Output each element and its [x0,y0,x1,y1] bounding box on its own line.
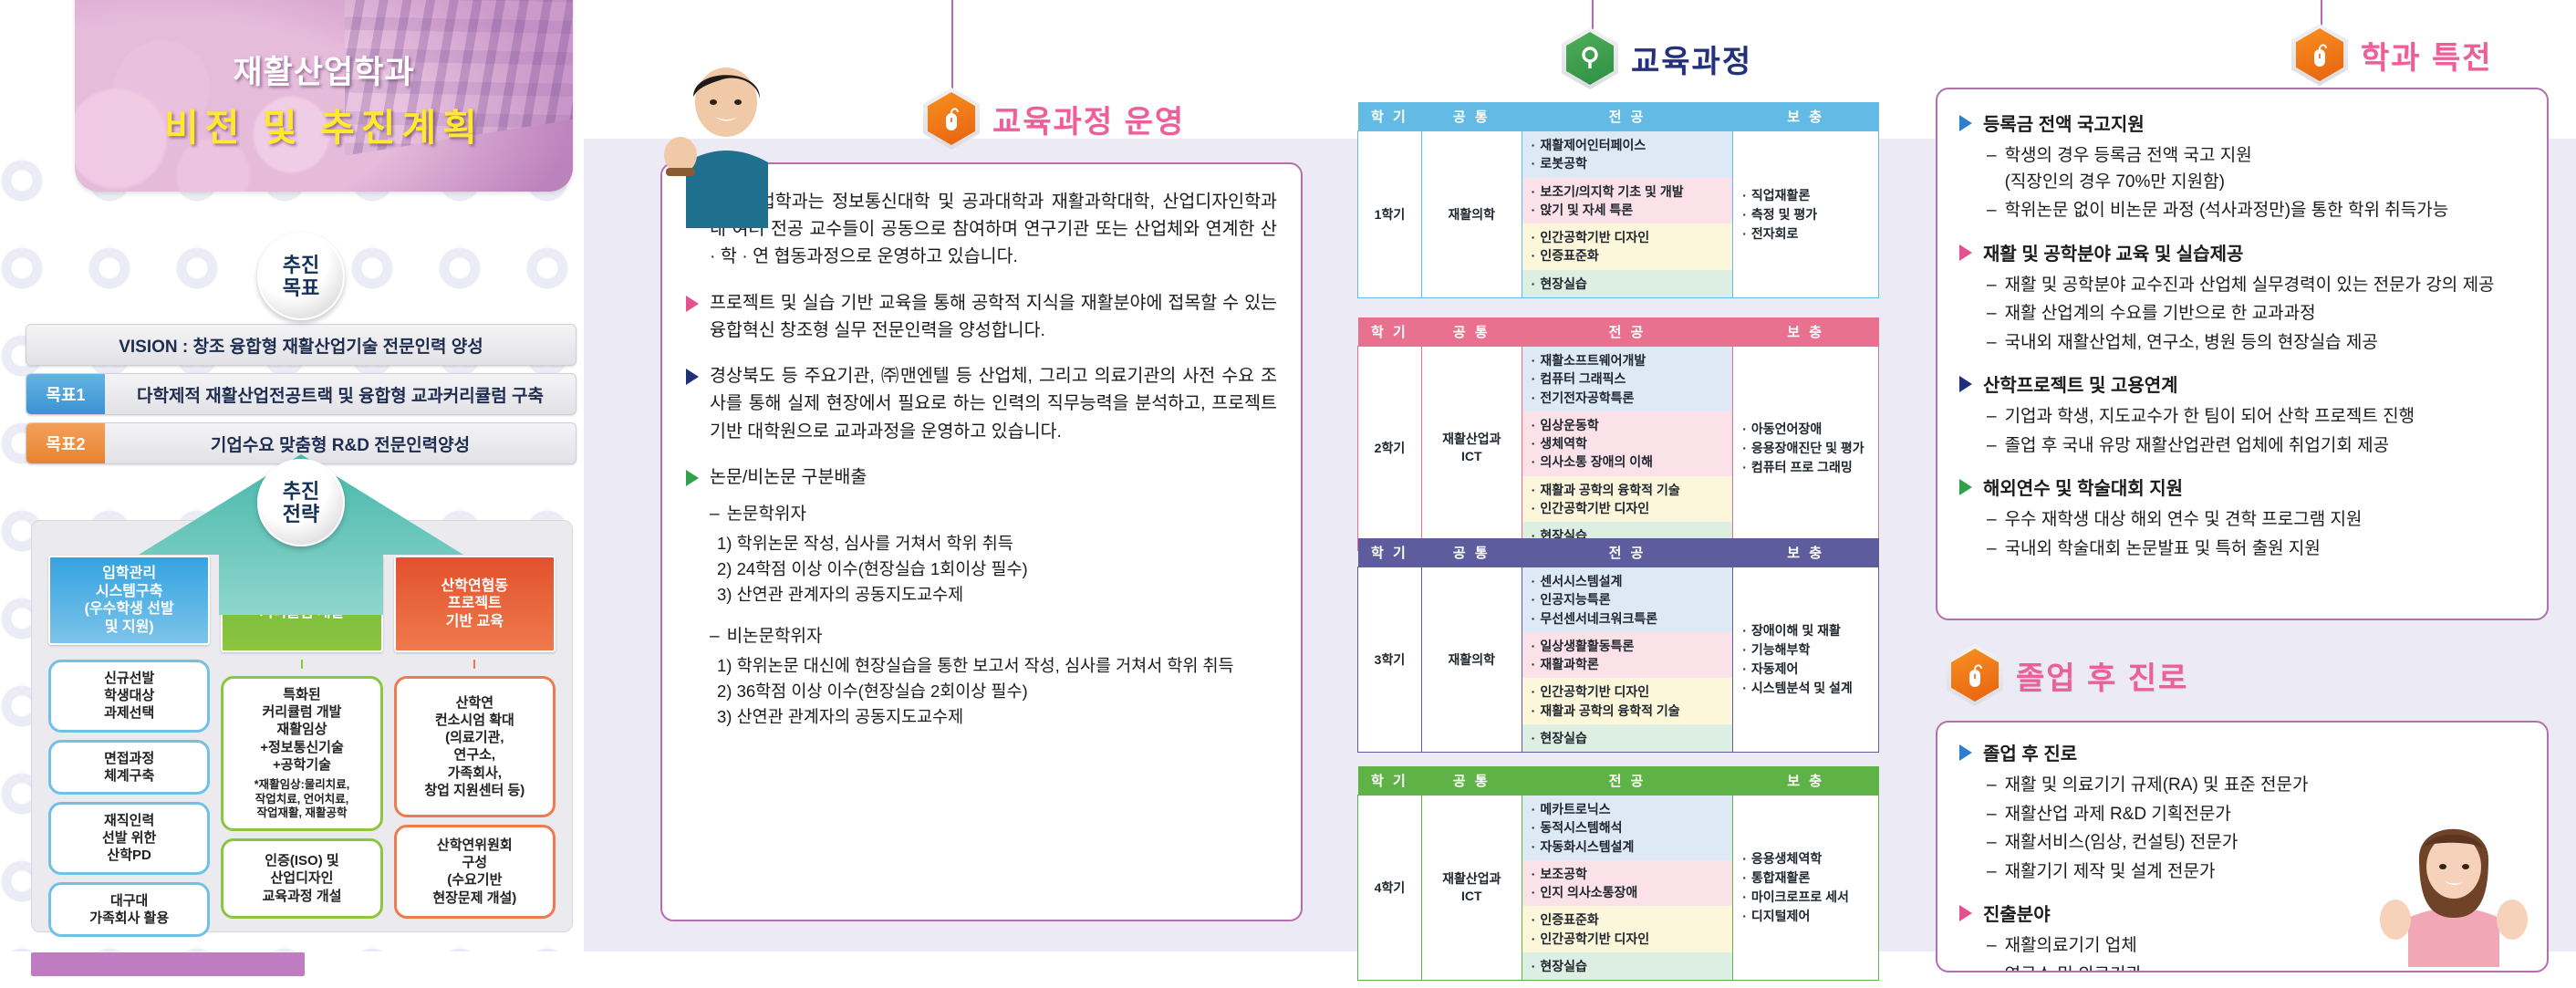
bullet-dot-icon: · [1532,885,1536,900]
course-item: ·재활과학론 [1532,655,1726,673]
strategy-badge: 추진 전략 [257,459,345,546]
magnifier-icon [1578,45,1602,72]
search-hex-icon [1562,27,1618,89]
bullet-dot-icon: · [1532,867,1536,881]
course-item: ·인증표준화 [1532,246,1726,265]
thesis-item-2: 2) 24학점 이상 이수(현장실습 1회이상 필수) [737,556,1277,582]
footer-accent-bar [31,952,305,976]
benefit-item-3-1: –기업과 학생, 지도교수가 한 팀이 되어 산학 프로젝트 진행 [1987,404,2525,431]
career-card: 졸업 후 진로–재활 및 의료기기 규제(RA) 및 표준 전문가–재활산업 과… [1936,721,2549,972]
hero-banner: 재활산업학과 비전 및 추진계획 [75,0,573,192]
strategy-connector [473,660,475,669]
course-item: ·재활소프트웨어개발 [1532,351,1726,369]
career-head-1: 졸업 후 진로 [1959,739,2525,765]
major-group-3: ·인간공학기반 디자인·인증표준화 [1522,224,1733,270]
bullet-dot-icon: · [1532,839,1536,854]
dash-marker: – [1987,198,1997,224]
operation-bullet-text: 프로젝트 및 실습 기반 교육을 통해 공학적 지식을 재활분야에 접목할 수 … [710,289,1277,344]
course-item: ·마이크로프로 세서 [1742,888,1871,907]
major-group-2: ·일상생활활동특론·재활과학론 [1522,632,1733,679]
bullet-dot-icon: · [1532,436,1536,451]
benefit-item-text: 재활 산업계의 수요를 기반으로 한 교과과정 [2005,301,2316,328]
mouse-icon [2309,41,2331,68]
major-group-3: ·인간공학기반 디자인·재활과 공학의 융학적 기술 [1522,678,1733,724]
dash-marker: – [710,504,720,524]
course-item: ·의사소통 장애의 이해 [1532,452,1726,471]
table-header-2: 공 통 [1421,538,1522,567]
bullet-dot-icon: · [1532,371,1536,386]
bullet-triangle-icon [1959,744,1972,761]
table-header-3: 전 공 [1522,102,1733,131]
course-item: ·무선센서네크워크특론 [1532,609,1726,628]
bullet-dot-icon: · [1532,454,1536,469]
bullet-dot-icon: · [1532,248,1536,263]
career-section-header: 졸업 후 진로 [1947,644,2188,706]
table-row: 1학기재활의학·재활제어인터페이스·로봇공학·보조기/의지학 기초 및 개발·앉… [1358,131,1879,298]
benefit-head-text: 재활 및 공학분야 교육 및 실습제공 [1983,239,2243,265]
benefits-body: 등록금 전액 국고지원–학생의 경우 등록금 전액 국고 지원(직장인의 경우 … [1937,89,2547,585]
supplementary-courses-cell: ·장애이해 및 재활·기능해부학·자동제어·시스템분석 및 설계 [1733,567,1879,753]
major-group-4: ·현장실습 [1522,270,1733,297]
benefit-item-1-2: –학위논문 없이 비논문 과정 (석사과정만)을 통한 학위 취득가능 [1987,198,2525,224]
benefit-head-2: 재활 및 공학분야 교육 및 실습제공 [1959,239,2525,265]
semester-cell: 3학기 [1358,567,1422,753]
curriculum-table-4: 학 기공 통전 공보 충4학기재활산업과ICT·메카트로닉스·동적시스템해석·자… [1357,766,1879,981]
table-header-4: 보 충 [1733,766,1879,796]
bullet-dot-icon: · [1532,684,1536,699]
curriculum-title: 교육과정 [1631,36,1752,81]
course-item: ·인간공학기반 디자인 [1532,682,1726,701]
bullet-dot-icon: · [1532,802,1536,816]
bullet-dot-icon: · [1742,226,1747,241]
bullet-triangle-icon [1959,115,1972,131]
course-item: ·전자회로 [1742,224,1871,244]
vision-column: 재활산업학과 비전 및 추진계획 추진 목표 VISION : 창조 융합형 재… [0,0,602,988]
curriculum-table-3: 학 기공 통전 공보 충3학기재활의학·센서시스템설계·인공지능특론·무선센서네… [1357,538,1879,753]
benefit-item-4-1: –우수 재학생 대상 해외 연수 및 견학 프로그램 지원 [1987,507,2525,534]
goal-1-text: 다학제적 재활산업전공트랙 및 융합형 교과커리큘럼 구축 [105,382,576,407]
bullet-dot-icon: · [1742,661,1747,676]
major-courses-cell: ·센서시스템설계·인공지능특론·무선센서네크워크특론·일상생활활동특론·재활과학… [1522,567,1733,753]
career-head-text: 졸업 후 진로 [1983,739,2077,765]
dash-marker: – [1987,933,1997,960]
benefit-item-text: 졸업 후 국내 유망 재활산업관련 업체에 취업기회 제공 [2005,433,2390,460]
strategy-box-note: *재활임상:물리치료,작업치료, 언어치료,작업재활, 재활공학 [254,778,350,821]
semester-cell: 2학기 [1358,347,1422,551]
table-header-4: 보 충 [1733,102,1879,131]
benefits-column: 학과 특전 등록금 전액 국고지원–학생의 경우 등록금 전액 국고 지원(직장… [1916,0,2576,988]
course-item: ·디지털제어 [1742,907,1871,926]
operation-body: 재활산업학과는 정보통신대학 및 공과대학과 재활과학대학, 산업디자인학과 내… [662,164,1301,749]
student-photo-female [2372,803,2536,967]
bullet-dot-icon: · [1532,501,1536,515]
career-head-text: 진출분야 [1983,900,2051,926]
course-item: ·통합재활론 [1742,868,1871,888]
bullet-dot-icon: · [1532,731,1536,745]
bullet-triangle-icon [1959,376,1972,392]
course-item: ·전기전자공학특론 [1532,389,1726,407]
major-courses-cell: ·메카트로닉스·동적시스템해석·자동화시스템설계·보조공학·인지 의사소통장애·… [1522,796,1733,981]
curriculum-section-header: 교육과정 [1562,27,1752,89]
hero-subtitle: 비전 및 추진계획 [75,97,573,151]
bullet-dot-icon: · [1532,483,1536,497]
bullet-triangle-icon [1959,905,1972,921]
benefit-item-text: 국내외 학술대회 논문발표 및 특허 출원 지원 [2005,536,2321,563]
bullet-dot-icon: · [1742,188,1747,203]
strategy-badge-line2: 전략 [283,503,319,525]
strategy-box-2-1: 특화된커리큘럼 개발재활임상+정보통신기술+공학기술*재활임상:물리치료,작업치… [221,676,382,831]
course-item: ·앉기 및 자세 특론 [1532,201,1726,219]
operation-stem-line [951,0,953,95]
strategy-badge-line1: 추진 [283,480,319,503]
benefit-item-4-2: –국내외 학술대회 논문발표 및 특허 출원 지원 [1987,536,2525,563]
bullet-dot-icon: · [1532,203,1536,217]
career-title: 졸업 후 진로 [2016,653,2188,698]
table-header-3: 전 공 [1522,317,1733,347]
operation-card: 재활산업학과는 정보통신대학 및 공과대학과 재활과학대학, 산업디자인학과 내… [660,162,1303,921]
table-header-2: 공 통 [1421,317,1522,347]
bullet-dot-icon: · [1532,611,1536,626]
bullet-dot-icon: · [1532,657,1536,671]
dash-marker: – [710,627,720,646]
benefit-item-text: 학위논문 없이 비논문 과정 (석사과정만)을 통한 학위 취득가능 [2005,198,2449,224]
table-header-4: 보 충 [1733,538,1879,567]
bullet-triangle-icon [686,470,699,486]
mouse-icon [1964,661,1986,689]
course-item: ·인간공학기반 디자인 [1532,228,1726,246]
bullet-dot-icon: · [1742,207,1747,222]
curriculum-table-1: 학 기공 통전 공보 충1학기재활의학·재활제어인터페이스·로봇공학·보조기/의… [1357,102,1879,298]
course-item: ·장애이해 및 재활 [1742,621,1871,640]
benefits-title: 학과 특전 [2361,33,2493,78]
bullet-dot-icon: · [1532,184,1536,199]
major-courses-cell: ·재활소프트웨어개발·컴퓨터 그래픽스·전기전자공학특론·임상운동학·생체역학·… [1522,347,1733,551]
table-header-4: 보 충 [1733,317,1879,347]
bullet-dot-icon: · [1742,681,1747,695]
benefit-item-text: 국내외 재활산업체, 연구소, 병원 등의 현장실습 제공 [2005,330,2378,357]
course-item: ·측정 및 평가 [1742,205,1871,224]
dash-marker: – [1987,301,1997,328]
supplementary-courses-cell: ·직업재활론·측정 및 평가·전자회로 [1733,131,1879,298]
dash-marker: – [1987,404,1997,431]
benefit-item-2-1: –재활 및 공학분야 교수진과 산업체 실무경력이 있는 전문가 강의 제공 [1987,273,2525,299]
supplementary-courses-cell: ·아동언어장애·응용장애진단 및 평가·컴퓨터 프로 그래밍 [1733,347,1879,551]
career-item-text: 재활산업 과제 R&D 기획전문가 [2005,802,2231,828]
course-item: ·로봇공학 [1532,154,1726,172]
bullet-dot-icon: · [1532,820,1536,835]
bullet-dot-icon: · [1532,959,1536,973]
degree-heading-text: 논문/비논문 구분배출 [710,463,867,491]
course-item: ·컴퓨터 그래픽스 [1532,369,1726,388]
thesis-item-3: 3) 산연관 관계자의 공동지도교수제 [737,582,1277,608]
bullet-triangle-icon [1959,479,1972,495]
goal-1-tag: 목표1 [26,374,105,414]
bullet-dot-icon: · [1532,931,1536,946]
benefit-item-2-3: –국내외 재활산업체, 연구소, 병원 등의 현장실습 제공 [1987,330,2525,357]
course-item: ·재활과 공학의 융학적 기술 [1532,481,1726,499]
operation-section-header: 교육과정 운영 [923,88,1185,150]
dash-marker: – [1987,830,1997,857]
bullet-dot-icon: · [1742,889,1747,904]
table-header-1: 학 기 [1358,766,1422,796]
bullet-dot-icon: · [1742,642,1747,657]
course-item: ·보조기/의지학 기초 및 개발 [1532,182,1726,201]
operation-bullet-2: 프로젝트 및 실습 기반 교육을 통해 공학적 지식을 재활분야에 접목할 수 … [686,289,1277,344]
bullet-dot-icon: · [1532,703,1536,718]
semester-cell: 1학기 [1358,131,1422,298]
course-item: ·동적시스템해석 [1532,818,1726,837]
table-header-row: 학 기공 통전 공보 충 [1358,102,1879,131]
goal-2-text: 기업수요 맞춤형 R&D 전문인력양성 [105,432,576,456]
benefit-item-text: 학생의 경우 등록금 전액 국고 지원(직장인의 경우 70%만 지원함) [2005,143,2252,195]
hero-department-name: 재활산업학과 [75,47,573,93]
table-header-2: 공 통 [1421,766,1522,796]
benefit-item-3-2: –졸업 후 국내 유망 재활산업관련 업체에 취업기회 제공 [1987,433,2525,460]
benefit-head-text: 등록금 전액 국고지원 [1983,109,2145,136]
bullet-dot-icon: · [1532,276,1536,291]
curriculum-column: 교육과정 학 기공 통전 공보 충1학기재활의학·재활제어인터페이스·로봇공학·… [1350,0,1897,988]
course-item: ·인지 의사소통장애 [1532,883,1726,901]
major-group-1: ·센서시스템설계·인공지능특론·무선센서네크워크특론 [1522,567,1733,632]
major-group-1: ·메카트로닉스·동적시스템해석·자동화시스템설계 [1522,796,1733,860]
bullet-dot-icon: · [1742,460,1747,474]
dash-marker: – [1987,330,1997,357]
course-item: ·재활제어인터페이스 [1532,136,1726,154]
bullet-triangle-icon [1959,244,1972,261]
course-item: ·인간공학기반 디자인 [1532,930,1726,948]
career-item-text: 재활 및 의료기기 규제(RA) 및 표준 전문가 [2005,773,2309,799]
career-item-text: 재활서비스(임상, 컨설팅) 전문가 [2005,830,2238,857]
semester-cell: 4학기 [1358,796,1422,981]
nonthesis-item-3: 3) 산연관 관계자의 공동지도교수제 [737,704,1277,730]
course-item: ·자동제어 [1742,660,1871,679]
course-item: ·현장실습 [1532,729,1726,747]
benefit-item-text: 기업과 학생, 지도교수가 한 팀이 되어 산학 프로젝트 진행 [2005,404,2415,431]
goal-badge: 추진 목표 [257,233,345,320]
major-courses-cell: ·재활제어인터페이스·로봇공학·보조기/의지학 기초 및 개발·앉기 및 자세 … [1522,131,1733,298]
course-item: ·센서시스템설계 [1532,572,1726,590]
course-item: ·인공지능특론 [1532,590,1726,608]
benefit-item-2-2: –재활 산업계의 수요를 기반으로 한 교과과정 [1987,301,2525,328]
table-header-1: 학 기 [1358,102,1422,131]
benefit-head-3: 산학프로젝트 및 고용연계 [1959,370,2525,397]
benefit-head-text: 해외연수 및 학술대회 지원 [1983,473,2183,500]
major-group-4: ·현장실습 [1522,952,1733,980]
operation-bullet-text: 경상북도 등 주요기관, ㈜맨엔텔 등 산업체, 그리고 의료기관의 사전 수요… [710,362,1277,445]
dash-marker: – [1987,962,1997,973]
table-header-row: 학 기공 통전 공보 충 [1358,766,1879,796]
bullet-dot-icon: · [1742,441,1747,455]
bullet-dot-icon: · [1532,418,1536,432]
dash-marker: – [1987,507,1997,534]
benefit-item-1-1: –학생의 경우 등록금 전액 국고 지원(직장인의 경우 70%만 지원함) [1987,143,2525,195]
course-item: ·일상생활활동특론 [1532,637,1726,655]
career-item-1-1: –재활 및 의료기기 규제(RA) 및 표준 전문가 [1987,773,2525,799]
operation-title: 교육과정 운영 [992,97,1185,141]
table-header-1: 학 기 [1358,317,1422,347]
goal-badge-line2: 목표 [283,276,319,299]
bullet-dot-icon: · [1532,912,1536,927]
course-item: ·보조공학 [1532,865,1726,883]
course-item: ·직업재활론 [1742,186,1871,205]
operation-bullet-3: 경상북도 등 주요기관, ㈜맨엔텔 등 산업체, 그리고 의료기관의 사전 수요… [686,362,1277,445]
bullet-dot-icon: · [1742,623,1747,638]
bullet-triangle-icon [686,296,699,312]
bullet-dot-icon: · [1532,230,1536,244]
course-item: ·컴퓨터 프로 그래밍 [1742,458,1871,477]
major-group-2: ·임상운동학·생체역학·의사소통 장애의 이해 [1522,411,1733,476]
strategy-connector [301,660,303,669]
bullet-triangle-icon [686,369,699,385]
benefit-head-1: 등록금 전액 국고지원 [1959,109,2525,136]
course-item: ·임상운동학 [1532,416,1726,434]
goal-badge-line1: 추진 [283,254,319,276]
major-group-2: ·보조공학·인지 의사소통장애 [1522,860,1733,907]
table-header-3: 전 공 [1522,766,1733,796]
strategy-box-3-2: 산학연위원회구성(수요기반현장문제 개설) [394,825,556,919]
dash-marker: – [1987,273,1997,299]
course-item: ·메카트로닉스 [1532,800,1726,818]
bullet-dot-icon: · [1532,639,1536,653]
career-item-text: 재활기기 제작 및 설계 전문가 [2005,859,2216,886]
course-item: ·아동언어장애 [1742,420,1871,439]
course-item: ·응용생체역학 [1742,849,1871,868]
thesis-item-1: 1) 학위논문 작성, 심사를 거쳐서 학위 취득 [737,531,1277,556]
dash-marker: – [1987,433,1997,460]
course-item: ·재활과 공학의 융학적 기술 [1532,702,1726,720]
table-row: 2학기재활산업과ICT·재활소프트웨어개발·컴퓨터 그래픽스·전기전자공학특론·… [1358,347,1879,551]
course-item: ·인증표준화 [1532,910,1726,929]
thesis-label: –논문학위자 [710,502,1277,528]
major-group-3: ·재활과 공학의 융학적 기술·인간공학기반 디자인 [1522,476,1733,523]
supplementary-courses-cell: ·응용생체역학·통합재활론·마이크로프로 세서·디지털제어 [1733,796,1879,981]
dash-marker: – [1987,773,1997,799]
bullet-dot-icon: · [1742,421,1747,436]
benefits-section-header: 학과 특전 [2291,24,2493,86]
table-header-row: 학 기공 통전 공보 충 [1358,538,1879,567]
table-header-3: 전 공 [1522,538,1733,567]
table-row: 3학기재활의학·센서시스템설계·인공지능특론·무선센서네크워크특론·일상생활활동… [1358,567,1879,753]
mouse-hex-icon [1947,644,2003,706]
goal-2-tag: 목표2 [26,423,105,463]
bullet-dot-icon: · [1742,870,1747,885]
bullet-dot-icon: · [1742,851,1747,866]
strategy-box-3-1: 산학연컨소시엄 확대(의료기관,연구소,가족회사,창업 지원센터 등) [394,676,556,817]
strategy-box-1-2: 면접과정체계구축 [48,740,210,795]
course-item: ·인간공학기반 디자인 [1532,499,1726,517]
bullet-dot-icon: · [1532,592,1536,607]
benefits-card: 등록금 전액 국고지원–학생의 경우 등록금 전액 국고 지원(직장인의 경우 … [1936,88,2549,620]
strategy-box-1-1: 신규선발학생대상과제선택 [48,660,210,733]
strategy-box-1-4: 대구대가족회사 활용 [48,882,210,937]
major-group-3: ·인증표준화·인간공학기반 디자인 [1522,906,1733,952]
course-item: ·현장실습 [1532,275,1726,293]
curriculum-table-2: 학 기공 통전 공보 충2학기재활산업과ICT·재활소프트웨어개발·컴퓨터 그래… [1357,317,1879,551]
course-item: ·기능해부학 [1742,640,1871,660]
nonthesis-item-1: 1) 학위논문 대신에 현장실습을 통한 보고서 작성, 심사를 거쳐서 학위 … [737,653,1277,679]
table-header-row: 학 기공 통전 공보 충 [1358,317,1879,347]
benefit-head-text: 산학프로젝트 및 고용연계 [1983,370,2178,397]
benefit-item-text: 우수 재학생 대상 해외 연수 및 견학 프로그램 지원 [2005,507,2363,534]
bullet-dot-icon: · [1532,156,1536,171]
mouse-hex-icon [923,88,980,150]
bullet-dot-icon: · [1742,909,1747,923]
nonthesis-item-2: 2) 36학점 이상 이수(현장실습 2회이상 필수) [737,679,1277,704]
table-row: 4학기재활산업과ICT·메카트로닉스·동적시스템해석·자동화시스템설계·보조공학… [1358,796,1879,981]
vision-goal-stack: VISION : 창조 융합형 재활산업기술 전문인력 양성 목표1 다학제적 … [26,324,576,472]
bullet-dot-icon: · [1532,353,1536,368]
course-item: ·응용장애진단 및 평가 [1742,439,1871,458]
table-header-1: 학 기 [1358,538,1422,567]
goal-row-1: 목표1 다학제적 재활산업전공트랙 및 융합형 교과커리큘럼 구축 [26,373,576,415]
dash-marker: – [1987,143,1997,195]
common-course-cell: 재활산업과ICT [1421,347,1522,551]
student-photo-male [659,55,795,228]
bullet-dot-icon: · [1532,390,1536,405]
operation-column: 교육과정 운영 재활산업학과는 정보통신대학 및 공과대학과 재활과학대학, 산… [639,0,1332,988]
strategy-box-2-2: 인증(ISO) 및산업디자인교육과정 개설 [221,838,382,919]
course-item: ·현장실습 [1532,957,1726,975]
common-course-cell: 재활의학 [1421,567,1522,753]
table-header-2: 공 통 [1421,102,1522,131]
major-group-1: ·재활소프트웨어개발·컴퓨터 그래픽스·전기전자공학특론 [1522,347,1733,411]
course-item: ·생체역학 [1532,434,1726,452]
bullet-dot-icon: · [1532,574,1536,588]
dash-marker: – [1987,536,1997,563]
course-item: ·자동화시스템설계 [1532,837,1726,856]
major-group-2: ·보조기/의지학 기초 및 개발·앉기 및 자세 특론 [1522,178,1733,224]
dash-marker: – [1987,802,1997,828]
common-course-cell: 재활의학 [1421,131,1522,298]
nonthesis-label: –비논문학위자 [710,624,1277,650]
benefit-item-text: 재활 및 공학분야 교수진과 산업체 실무경력이 있는 전문가 강의 제공 [2005,273,2495,299]
strategy-box-1-3: 재직인력선발 위한산학PD [48,802,210,875]
bullet-dot-icon: · [1532,138,1536,152]
benefit-head-4: 해외연수 및 학술대회 지원 [1959,473,2525,500]
mouse-icon [940,105,962,132]
dash-marker: – [1987,859,1997,886]
course-item: ·시스템분석 및 설계 [1742,679,1871,698]
mouse-hex-icon [2291,24,2348,86]
degree-heading: 논문/비논문 구분배출 [686,463,1277,491]
vision-statement-bar: VISION : 창조 융합형 재활산업기술 전문인력 양성 [26,324,576,366]
common-course-cell: 재활산업과ICT [1421,796,1522,981]
vision-statement-text: VISION : 창조 융합형 재활산업기술 전문인력 양성 [26,333,576,358]
career-item-text: 재활의료기기 업체 [2005,933,2137,960]
major-group-4: ·현장실습 [1522,724,1733,752]
career-item-text: 연구소 및 의료기관 [2005,962,2142,973]
major-group-1: ·재활제어인터페이스·로봇공학 [1522,131,1733,178]
